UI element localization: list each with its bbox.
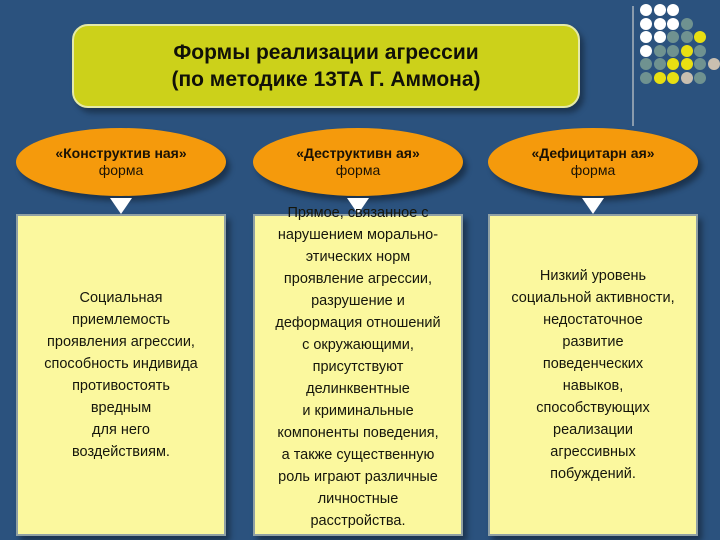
decorative-dot bbox=[667, 18, 679, 30]
branch-panel-deficit: Низкий уровень социальной активности, не… bbox=[488, 214, 698, 536]
connector-arrow-deficit bbox=[582, 198, 604, 214]
decorative-dot bbox=[654, 31, 666, 43]
decorative-dot bbox=[667, 58, 679, 70]
decorative-dot bbox=[654, 58, 666, 70]
decorative-dot bbox=[681, 18, 693, 30]
decorative-dot-grid bbox=[640, 4, 720, 88]
decorative-dot bbox=[640, 45, 652, 57]
branch-ellipse-title-destructive: «Деструктивн ая» bbox=[296, 145, 420, 162]
branch-ellipse-deficit[interactable]: «Дефицитарн ая» форма bbox=[488, 128, 698, 196]
decorative-dot bbox=[654, 45, 666, 57]
decorative-dot bbox=[667, 45, 679, 57]
branch-panel-text-deficit: Низкий уровень социальной активности, не… bbox=[507, 265, 678, 485]
decorative-dot bbox=[654, 4, 666, 16]
branch-ellipse-subtitle-deficit: форма bbox=[571, 162, 616, 179]
decorative-dot bbox=[640, 18, 652, 30]
decorative-dot bbox=[681, 45, 693, 57]
slide-title-line-1: Формы реализации агрессии bbox=[173, 39, 478, 66]
decorative-dot bbox=[694, 45, 706, 57]
decorative-dot bbox=[694, 31, 706, 43]
decorative-dot bbox=[681, 58, 693, 70]
connector-arrow-constructive bbox=[110, 198, 132, 214]
branch-ellipse-title-constructive: «Конструктив ная» bbox=[55, 145, 186, 162]
branch-ellipse-subtitle-constructive: форма bbox=[99, 162, 144, 179]
decorative-dot bbox=[681, 31, 693, 43]
decorative-dot bbox=[694, 58, 706, 70]
decorative-dot bbox=[640, 72, 652, 84]
branch-panel-constructive: Социальная приемлемость проявления агрес… bbox=[16, 214, 226, 536]
branch-ellipse-title-deficit: «Дефицитарн ая» bbox=[531, 145, 654, 162]
decorative-dot bbox=[681, 72, 693, 84]
decorative-dot bbox=[667, 31, 679, 43]
slide-title-box: Формы реализации агрессии (по методике 1… bbox=[72, 24, 580, 108]
decorative-dot bbox=[640, 58, 652, 70]
decorative-dot bbox=[667, 72, 679, 84]
decorative-dot bbox=[708, 58, 720, 70]
branch-panel-text-constructive: Социальная приемлемость проявления агрес… bbox=[40, 287, 202, 463]
branch-ellipse-constructive[interactable]: «Конструктив ная» форма bbox=[16, 128, 226, 196]
branch-ellipse-subtitle-destructive: форма bbox=[336, 162, 381, 179]
slide-canvas: Формы реализации агрессии (по методике 1… bbox=[0, 0, 720, 540]
decorative-dot bbox=[654, 18, 666, 30]
decorative-dot bbox=[654, 72, 666, 84]
branch-panel-destructive: Прямое, связанное с нарушением морально-… bbox=[253, 214, 463, 536]
decorative-dot bbox=[667, 4, 679, 16]
decorative-dot bbox=[640, 4, 652, 16]
decorative-dot bbox=[694, 72, 706, 84]
vertical-divider-rule bbox=[632, 6, 634, 126]
decorative-dot bbox=[640, 31, 652, 43]
slide-title-line-2: (по методике 13ТА Г. Аммона) bbox=[171, 66, 480, 93]
branch-ellipse-destructive[interactable]: «Деструктивн ая» форма bbox=[253, 128, 463, 196]
branch-panel-text-destructive: Прямое, связанное с нарушением морально-… bbox=[271, 202, 444, 532]
